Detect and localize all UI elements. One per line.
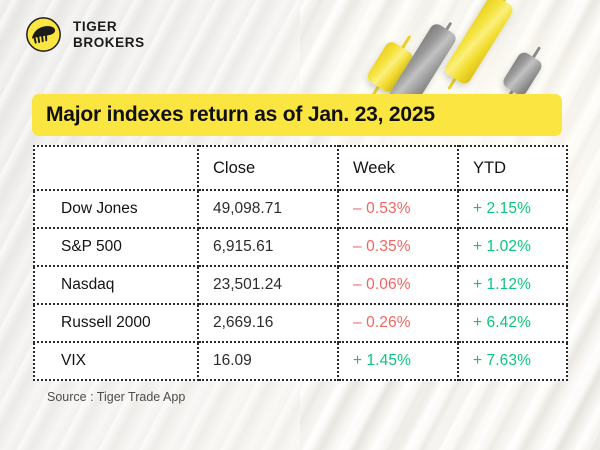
cell-close-value: 49,098.71	[198, 190, 338, 228]
column-header-close: Close	[198, 146, 338, 190]
cell-week-change: – 0.26%	[338, 304, 458, 342]
tiger-claw-circle-icon	[25, 16, 62, 53]
cell-week-change: + 1.45%	[338, 342, 458, 380]
index-returns-table: Close Week YTD Dow Jones49,098.71– 0.53%…	[33, 145, 568, 381]
cell-index-name: Russell 2000	[34, 304, 198, 342]
table-row: S&P 5006,915.61– 0.35%+ 1.02%	[34, 228, 567, 266]
brand-name-line2: BROKERS	[73, 35, 145, 51]
table-row: Russell 20002,669.16– 0.26%+ 6.42%	[34, 304, 567, 342]
cell-ytd-change: + 1.02%	[458, 228, 567, 266]
cell-ytd-change: + 6.42%	[458, 304, 567, 342]
brand-logo: TIGER BROKERS	[25, 16, 145, 53]
source-note: Source : Tiger Trade App	[47, 390, 185, 404]
column-header-week: Week	[338, 146, 458, 190]
brand-name-line1: TIGER	[73, 19, 145, 35]
cell-index-name: S&P 500	[34, 228, 198, 266]
cell-ytd-change: + 2.15%	[458, 190, 567, 228]
cell-week-change: – 0.53%	[338, 190, 458, 228]
brand-name: TIGER BROKERS	[73, 19, 145, 50]
column-header-index	[34, 146, 198, 190]
cell-close-value: 16.09	[198, 342, 338, 380]
index-table-container: Close Week YTD Dow Jones49,098.71– 0.53%…	[33, 145, 566, 381]
column-header-ytd: YTD	[458, 146, 567, 190]
cell-ytd-change: + 1.12%	[458, 266, 567, 304]
table-row: VIX16.09+ 1.45%+ 7.63%	[34, 342, 567, 380]
table-row: Dow Jones49,098.71– 0.53%+ 2.15%	[34, 190, 567, 228]
cell-ytd-change: + 7.63%	[458, 342, 567, 380]
cell-week-change: – 0.06%	[338, 266, 458, 304]
cell-week-change: – 0.35%	[338, 228, 458, 266]
title-banner: Major indexes return as of Jan. 23, 2025	[32, 94, 562, 136]
table-header-row: Close Week YTD	[34, 146, 567, 190]
cell-close-value: 23,501.24	[198, 266, 338, 304]
table-row: Nasdaq23,501.24– 0.06%+ 1.12%	[34, 266, 567, 304]
cell-close-value: 2,669.16	[198, 304, 338, 342]
cell-index-name: Nasdaq	[34, 266, 198, 304]
page-title: Major indexes return as of Jan. 23, 2025	[46, 103, 435, 127]
cell-index-name: VIX	[34, 342, 198, 380]
cell-close-value: 6,915.61	[198, 228, 338, 266]
cell-index-name: Dow Jones	[34, 190, 198, 228]
